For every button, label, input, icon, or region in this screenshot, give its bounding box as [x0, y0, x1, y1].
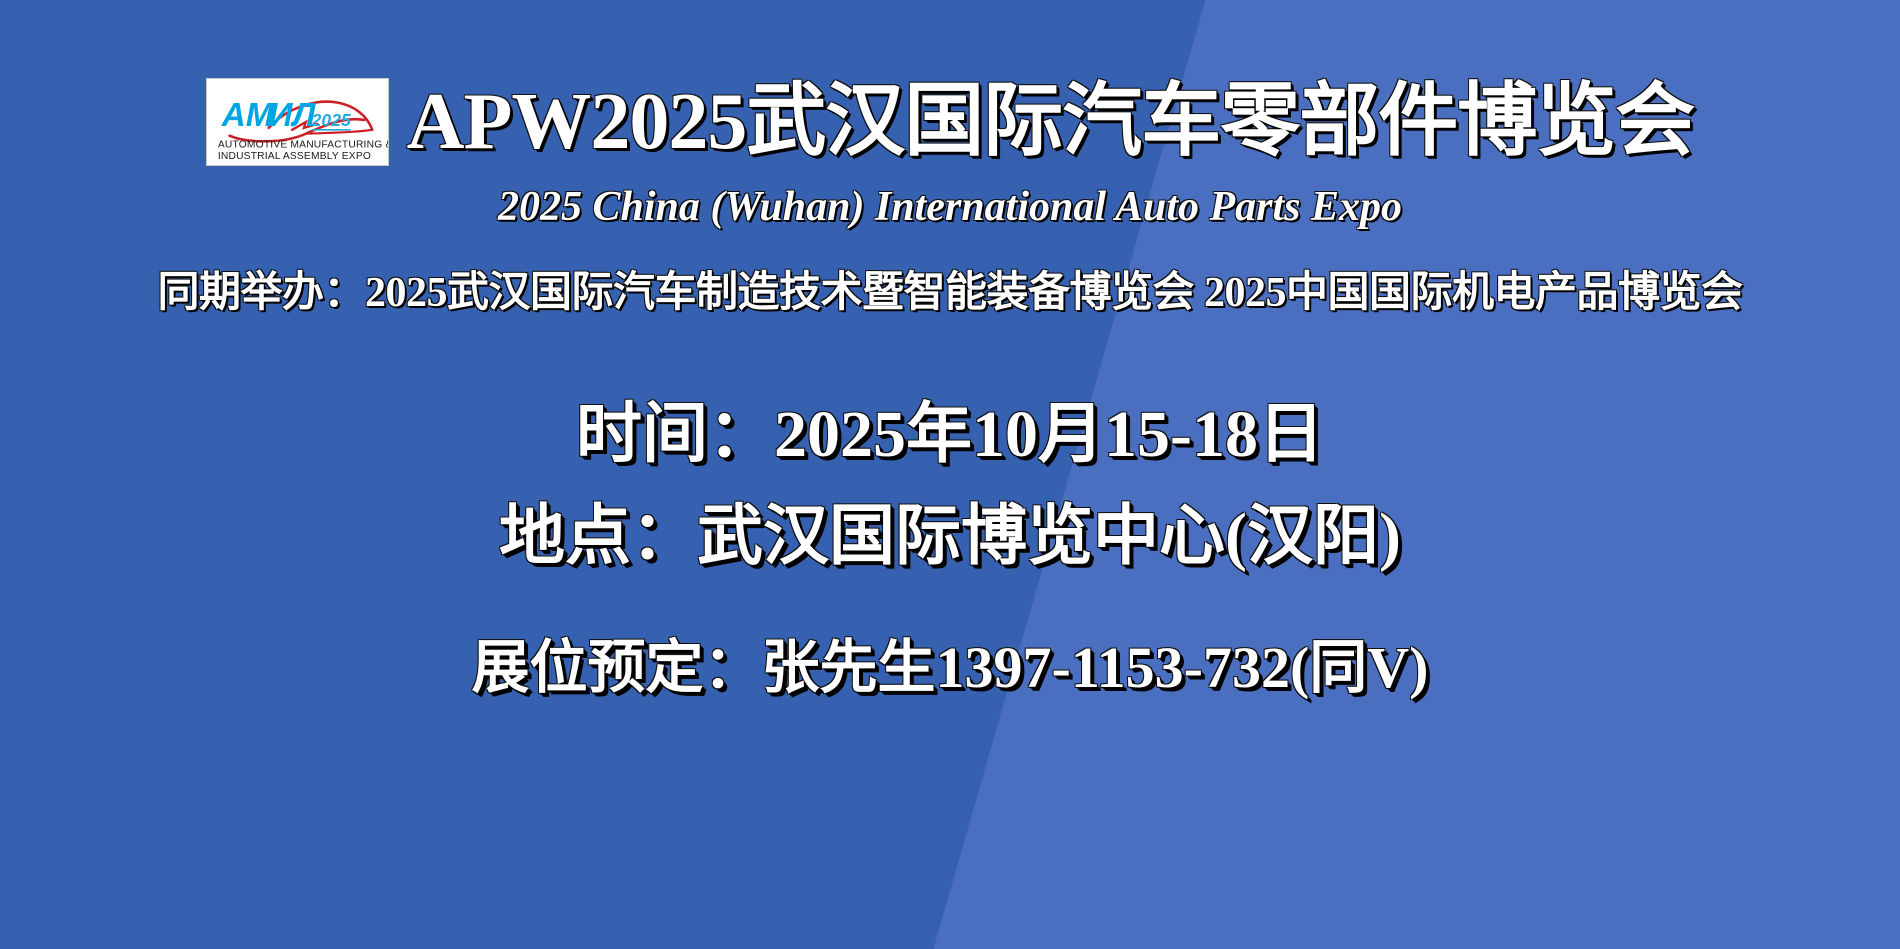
svg-text:2025: 2025: [310, 110, 350, 130]
poster-content: AM ИЛ 2025 AUTOMOTIVE MANUFACTURING & IN…: [0, 0, 1900, 949]
event-venue-line: 地点：武汉国际博览中心(汉阳): [0, 482, 1900, 578]
svg-text:AUTOMOTIVE MANUFACTURING &: AUTOMOTIVE MANUFACTURING &: [218, 139, 388, 150]
header-row: AM ИЛ 2025 AUTOMOTIVE MANUFACTURING & IN…: [0, 78, 1900, 166]
booth-booking-contact-line: 展位预定：张先生1397-1153-732(同V): [0, 620, 1900, 704]
amia-logo: AM ИЛ 2025 AUTOMOTIVE MANUFACTURING & IN…: [206, 78, 389, 166]
svg-text:ИЛ: ИЛ: [268, 97, 316, 134]
concurrent-events-line: 同期举办：2025武汉国际汽车制造技术暨智能装备博览会 2025中国国际机电产品…: [0, 258, 1900, 319]
subtitle-english: 2025 China (Wuhan) International Auto Pa…: [0, 183, 1900, 231]
event-poster: AM ИЛ 2025 AUTOMOTIVE MANUFACTURING & IN…: [0, 0, 1900, 949]
event-date-line: 时间：2025年10月15-18日: [0, 380, 1900, 476]
amia-logo-graphic: AM ИЛ 2025 AUTOMOTIVE MANUFACTURING & IN…: [207, 79, 388, 165]
svg-text:AM: AM: [220, 97, 274, 134]
svg-text:INDUSTRIAL ASSEMBLY EXPO: INDUSTRIAL ASSEMBLY EXPO: [218, 151, 371, 162]
page-title: APW2025武汉国际汽车零部件博览会: [407, 82, 1695, 162]
